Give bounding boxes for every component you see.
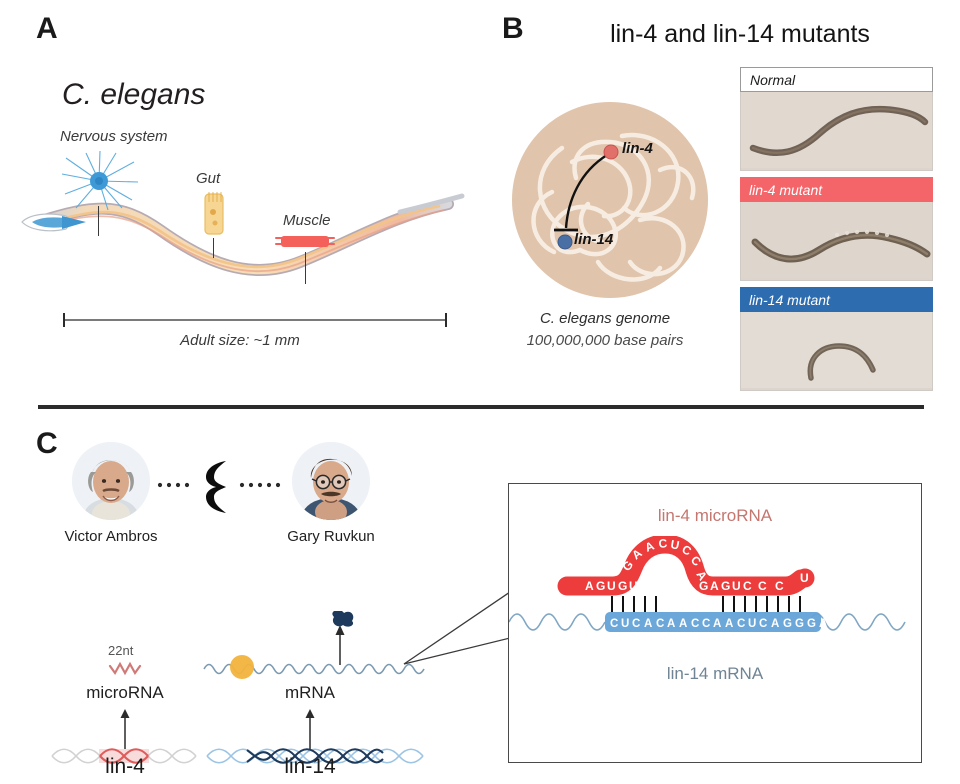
svg-text:C: C (691, 618, 699, 630)
photo-block-lin4-mutant: lin-4 mutant (740, 177, 933, 281)
photo-image-normal (740, 92, 933, 171)
svg-text:C: C (658, 536, 668, 551)
lin-14-gene-dot-label: lin-14 (574, 231, 613, 248)
photo-image-lin4-mutant (740, 202, 933, 281)
svg-text:C: C (632, 618, 640, 630)
svg-text:A: A (667, 618, 675, 630)
svg-text:A: A (644, 618, 652, 630)
microrna-mrna-detail-box: lin-4 microRNA (508, 483, 922, 763)
phone-handset-icon (156, 455, 286, 513)
svg-text:G: G (699, 579, 709, 593)
svg-text:U: U (732, 579, 741, 593)
svg-text:G: G (795, 618, 804, 630)
panel-b-title: lin-4 and lin-14 mutants (540, 20, 940, 49)
svg-text:G: G (807, 618, 816, 630)
panel-b: B lin-4 and lin-14 mutants lin-4 lin-14 … (480, 0, 960, 392)
svg-text:C: C (702, 618, 710, 630)
panel-a-title: C. elegans (62, 78, 205, 112)
svg-text:A: A (713, 618, 721, 630)
worm-photo-normal-drawing (741, 92, 932, 168)
lin-4-gene-dot-label: lin-4 (622, 140, 653, 157)
gut-leader-line (213, 238, 214, 258)
svg-text:U: U (800, 571, 809, 585)
genome-caption-line2: 100,000,000 base pairs (490, 332, 720, 349)
svg-text:A: A (819, 618, 827, 630)
neuron-icon (56, 148, 142, 214)
lin-4-gene-label: lin-4 (60, 755, 190, 779)
svg-text:U: U (629, 579, 638, 593)
worm-photo-lin14-drawing (741, 312, 932, 388)
nervous-system-leader-line (98, 206, 99, 236)
scientist-name-ruvkun: Gary Ruvkun (256, 528, 406, 545)
panel-b-letter: B (502, 12, 524, 46)
svg-text:U: U (607, 579, 616, 593)
svg-text:C: C (775, 579, 784, 593)
svg-text:A: A (710, 579, 719, 593)
svg-text:U: U (748, 618, 756, 630)
svg-text:C: C (656, 618, 664, 630)
microrna-left-arm-seq: A (585, 579, 594, 593)
microrna-mrna-binding-diagram: A G U G U G A A C U C C A G A G U C C C … (509, 536, 921, 664)
section-divider (38, 405, 924, 409)
scientist-name-ambros: Victor Ambros (36, 528, 186, 545)
portrait-victor-ambros (72, 442, 150, 520)
svg-text:A: A (725, 618, 733, 630)
panel-a-letter: A (36, 12, 58, 46)
panel-c-letter: C (36, 427, 58, 461)
worm-photo-lin4-drawing (741, 202, 932, 278)
lin-14-gene-label: lin-14 (215, 755, 405, 779)
photo-image-lin14-mutant (740, 312, 933, 391)
svg-text:G: G (618, 579, 628, 593)
microrna-squiggle-icon (108, 660, 144, 676)
portrait-drawing-ruvkun (292, 442, 370, 520)
svg-text:A: A (771, 618, 779, 630)
scale-bar (60, 312, 450, 328)
photo-block-lin14-mutant: lin-14 mutant (740, 287, 933, 391)
scale-bar-label: Adult size: ~1 mm (0, 332, 480, 349)
svg-text:C: C (759, 618, 767, 630)
mrna-transcription-arrow (303, 707, 317, 749)
portrait-drawing-ambros (72, 442, 150, 520)
gut-icon (201, 190, 227, 238)
mrna-product-label: mRNA (240, 683, 380, 703)
detail-microrna-label: lin-4 microRNA (509, 506, 921, 526)
panel-c: C Victor Ambros (0, 415, 960, 784)
photo-label-lin14-mutant: lin-14 mutant (740, 287, 933, 312)
muscle-icon (273, 230, 337, 252)
photo-label-lin4-mutant: lin-4 mutant (740, 177, 933, 202)
portrait-gary-ruvkun (292, 442, 370, 520)
panel-a: A C. elegans Nervous system Gut Muscle (0, 0, 480, 392)
detail-mrna-label: lin-14 mRNA (509, 664, 921, 684)
svg-text:A: A (679, 618, 687, 630)
photo-block-normal: Normal (740, 67, 933, 171)
svg-text:C: C (610, 618, 618, 630)
svg-text:G: G (721, 579, 731, 593)
svg-text:G: G (783, 618, 792, 630)
svg-text:C: C (737, 618, 745, 630)
svg-text:G: G (596, 579, 606, 593)
genome-caption-line1: C. elegans genome (490, 310, 720, 327)
genome-circle-diagram (510, 100, 710, 300)
svg-text:C: C (758, 579, 767, 593)
photo-label-normal: Normal (740, 67, 933, 92)
muscle-leader-line (305, 252, 306, 284)
svg-text:C: C (743, 579, 752, 593)
microrna-product-label: microRNA (60, 683, 190, 703)
microrna-transcription-arrow (118, 707, 132, 749)
microrna-size-label: 22nt (108, 643, 133, 658)
svg-text:U: U (621, 618, 629, 630)
detail-callout-lines (398, 590, 518, 670)
